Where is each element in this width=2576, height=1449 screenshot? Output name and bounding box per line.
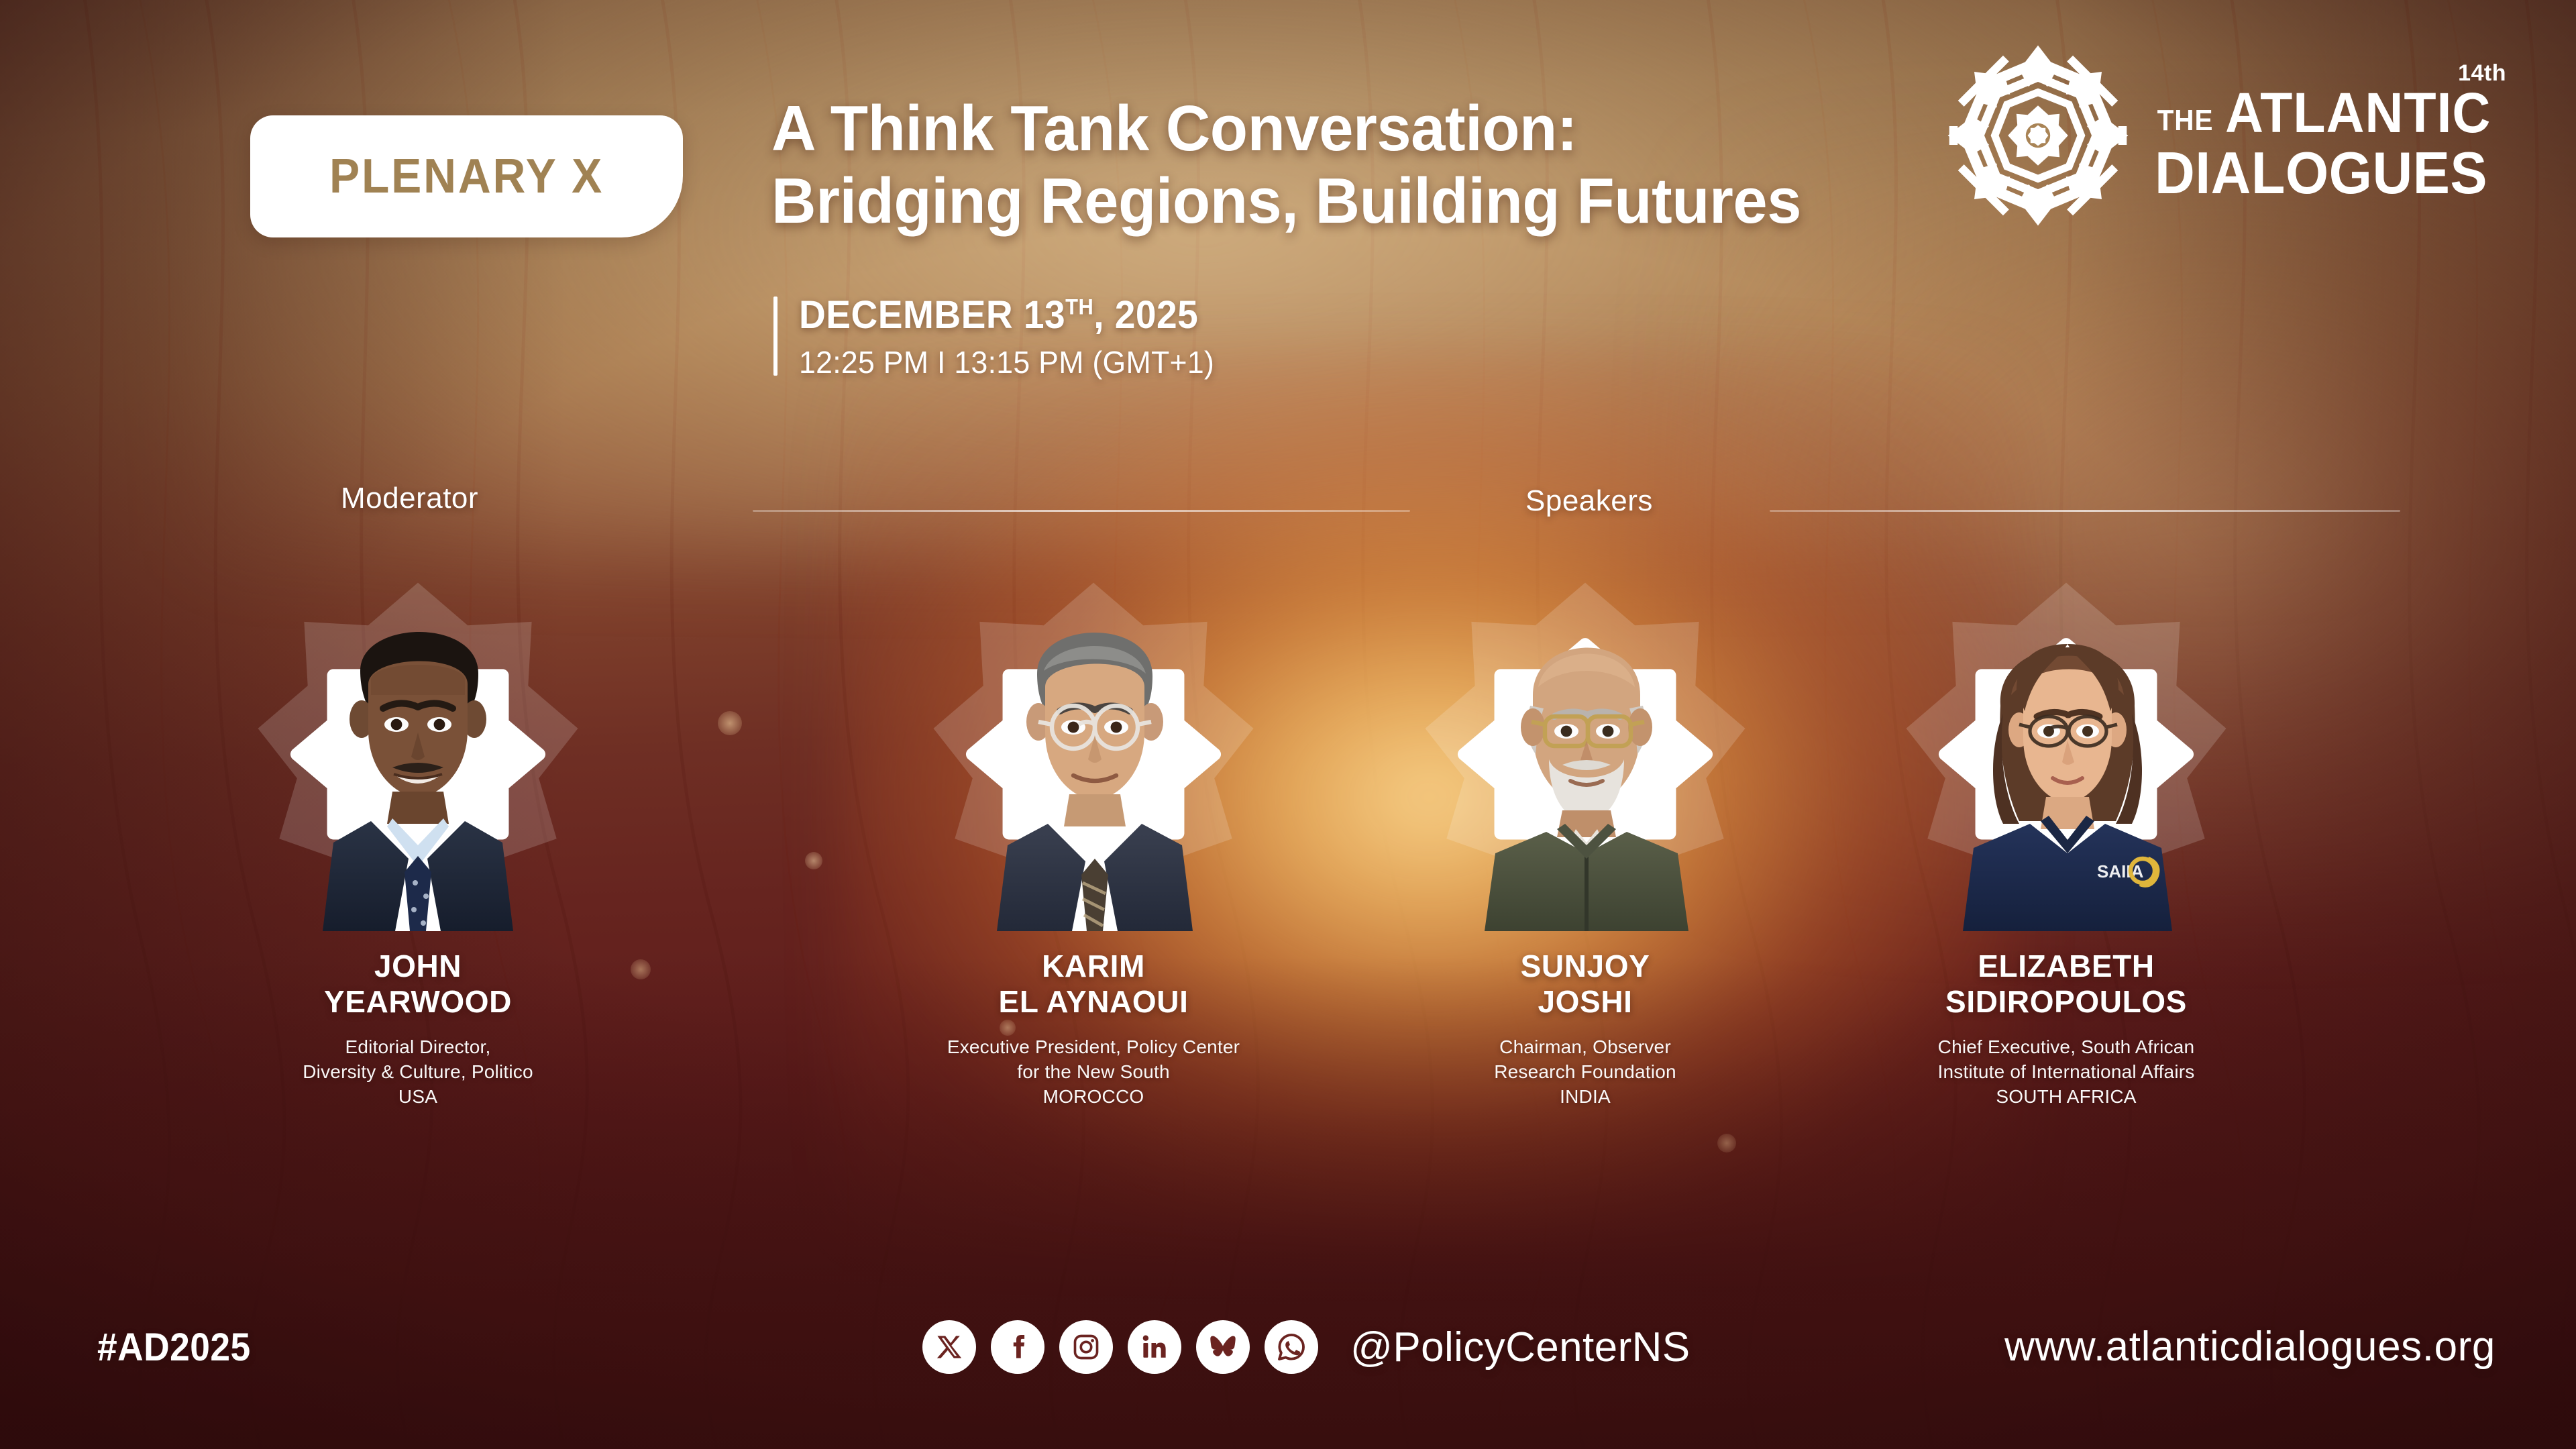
person-role-line-2: Institute of International Affairs <box>1938 1060 2195 1085</box>
instagram-icon[interactable] <box>1059 1320 1113 1374</box>
bluesky-icon[interactable] <box>1196 1320 1250 1374</box>
person-name: KARIM EL AYNAOUI <box>999 949 1189 1020</box>
person-role: Editorial Director, Diversity & Culture,… <box>303 1035 533 1110</box>
person-card: SUNJOY JOSHI Chairman, Observer Research… <box>1397 557 1773 1110</box>
person-country: MOROCCO <box>947 1085 1240 1110</box>
person-name: SUNJOY JOSHI <box>1521 949 1650 1020</box>
person-role: Chief Executive, South African Institute… <box>1938 1035 2195 1110</box>
session-date: DECEMBER 13TH, 2025 <box>799 292 1205 337</box>
portrait: SAIIA <box>1898 557 2234 932</box>
person-name-line-1: KARIM <box>999 949 1189 984</box>
logo-word-dialogues: DIALOGUES <box>2155 144 2487 203</box>
portrait-photo <box>923 555 1264 931</box>
event-poster: PLENARY X A Think Tank Conversation: Bri… <box>0 0 2576 1449</box>
portrait-star-frame <box>277 636 559 918</box>
person-role-line-1: Chairman, Observer <box>1494 1035 1676 1060</box>
portrait-star-frame <box>953 636 1234 918</box>
person-card: KARIM EL AYNAOUI Executive President, Po… <box>906 557 1281 1110</box>
session-title: A Think Tank Conversation: Bridging Regi… <box>771 93 1992 237</box>
portrait-photo <box>248 555 588 931</box>
person-role-line-2: Research Foundation <box>1494 1060 1676 1085</box>
x-twitter-icon[interactable] <box>922 1320 976 1374</box>
person-name-line-1: JOHN <box>324 949 512 984</box>
session-date-monthday: DECEMBER 13 <box>799 293 1065 337</box>
svg-text:SAIIA: SAIIA <box>2097 861 2144 881</box>
portrait-photo: SAIIA <box>1896 555 2237 931</box>
person-name-line-1: SUNJOY <box>1521 949 1650 984</box>
person-role-line-2: for the New South <box>947 1060 1240 1085</box>
divider-line-right <box>1770 510 2400 512</box>
atlantic-dialogues-logo: 14th THE ATLANTIC DIALOGUES <box>1944 42 2509 229</box>
session-time: 12:25 PM I 13:15 PM (GMT+1) <box>799 344 1214 380</box>
people-grid: JOHN YEARWOOD Editorial Director, Divers… <box>0 557 2576 1140</box>
portrait <box>250 557 586 932</box>
speakers-section-label: Speakers <box>1525 484 1653 518</box>
portrait-photo <box>1415 555 1756 931</box>
person-role: Executive President, Policy Center for t… <box>947 1035 1240 1110</box>
session-datetime: DECEMBER 13TH, 2025 12:25 PM I 13:15 PM … <box>773 292 1227 380</box>
person-name: JOHN YEARWOOD <box>324 949 512 1020</box>
person-role-line-1: Executive President, Policy Center <box>947 1035 1240 1060</box>
portrait-star-frame <box>1444 636 1726 918</box>
whatsapp-icon[interactable] <box>1265 1320 1318 1374</box>
person-country: INDIA <box>1494 1085 1676 1110</box>
portrait <box>926 557 1261 932</box>
rosette-star-mandala-icon <box>1944 42 2132 229</box>
person-name-line-2: JOSHI <box>1521 984 1650 1020</box>
divider-line-left <box>753 510 1410 512</box>
person-role-line-2: Diversity & Culture, Politico <box>303 1060 533 1085</box>
portrait-star-frame: SAIIA <box>1925 636 2207 918</box>
plenary-badge: PLENARY X <box>250 115 683 237</box>
person-name-line-2: YEARWOOD <box>324 984 512 1020</box>
person-card: JOHN YEARWOOD Editorial Director, Divers… <box>230 557 606 1110</box>
plenary-badge-label: PLENARY X <box>329 149 604 204</box>
atlantic-dialogues-wordmark: 14th THE ATLANTIC DIALOGUES <box>2155 68 2509 203</box>
social-links: @PolicyCenterNS <box>922 1320 1690 1374</box>
person-role-line-1: Chief Executive, South African <box>1938 1035 2195 1060</box>
logo-word-atlantic: ATLANTIC <box>2225 86 2491 140</box>
person-name-line-2: EL AYNAOUI <box>999 984 1189 1020</box>
portrait <box>1417 557 1753 932</box>
person-country: USA <box>303 1085 533 1110</box>
session-date-ordinal: TH <box>1065 295 1093 319</box>
person-name-line-1: ELIZABETH <box>1945 949 2187 984</box>
session-date-year: , 2025 <box>1093 293 1198 337</box>
person-name: ELIZABETH SIDIROPOULOS <box>1945 949 2187 1020</box>
facebook-icon[interactable] <box>991 1320 1044 1374</box>
event-hashtag: #AD2025 <box>97 1325 251 1370</box>
moderator-section-label: Moderator <box>341 482 478 515</box>
social-handle[interactable]: @PolicyCenterNS <box>1350 1324 1690 1371</box>
person-role: Chairman, Observer Research Foundation I… <box>1494 1035 1676 1110</box>
person-role-line-1: Editorial Director, <box>303 1035 533 1060</box>
person-name-line-2: SIDIROPOULOS <box>1945 984 2187 1020</box>
logo-word-the: THE <box>2157 106 2214 140</box>
session-title-line-2: Bridging Regions, Building Futures <box>771 165 1943 237</box>
person-country: SOUTH AFRICA <box>1938 1085 2195 1110</box>
linkedin-icon[interactable] <box>1128 1320 1181 1374</box>
website-url[interactable]: www.atlanticdialogues.org <box>2004 1323 2495 1371</box>
session-title-line-1: A Think Tank Conversation: <box>771 93 1943 165</box>
person-card: SAIIA ELIZABETH SIDIROPOULOS <box>1878 557 2254 1110</box>
